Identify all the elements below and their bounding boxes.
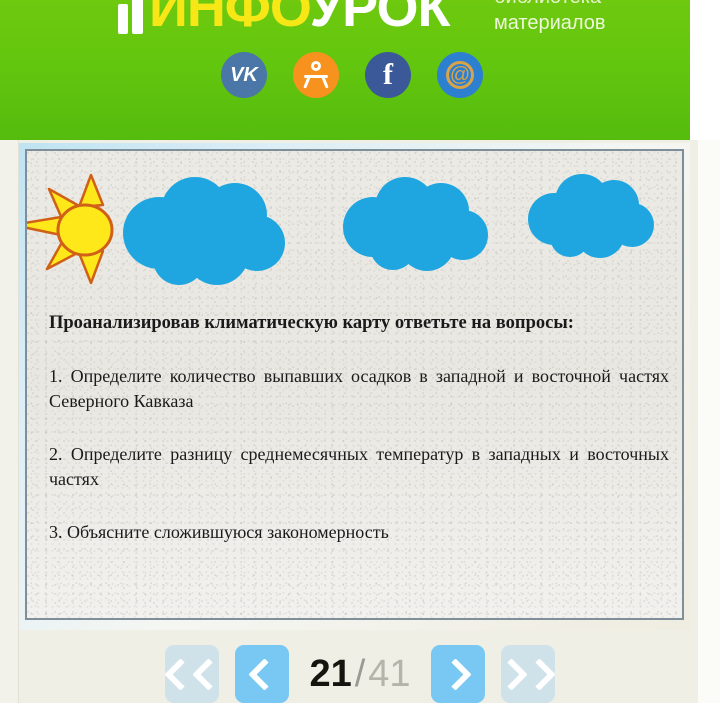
pagination-last-button[interactable] <box>501 645 555 703</box>
header-right-fill <box>690 0 720 140</box>
chevron-double-left-icon <box>165 663 220 686</box>
infourok-mark-icon <box>118 0 144 34</box>
cloud-svg-3 <box>522 171 660 263</box>
slide-frame[interactable]: Проанализировав климатическую карту отве… <box>19 143 690 630</box>
cloud-svg-1 <box>117 171 297 286</box>
question-item-2: 2. Определите разницу среднемесячных тем… <box>49 442 669 492</box>
tagline-line-1: библиотека <box>494 0 606 10</box>
logo-word-b: УРОК <box>310 0 450 38</box>
page-gutter-right <box>698 140 720 703</box>
tagline-line-2: материалов <box>494 10 606 36</box>
chevron-right-icon <box>439 658 472 691</box>
logo-word-a: ИНФО <box>149 0 310 38</box>
page-root: ИНФОУРОК библиотека материалов VK f <box>0 0 720 703</box>
pagination-prev-button[interactable] <box>235 645 289 703</box>
logo-wordmark: ИНФОУРОК <box>149 0 449 34</box>
slide-text-block: Проанализировав климатическую карту отве… <box>49 311 669 545</box>
slide-heading: Проанализировав климатическую карту отве… <box>49 311 669 336</box>
page-gutter-left <box>0 140 19 703</box>
site-logo[interactable]: ИНФОУРОК <box>118 0 449 34</box>
odnoklassniki-icon <box>304 61 328 89</box>
cloud-icon <box>117 171 297 291</box>
social-links: VK f @ <box>221 52 483 98</box>
cloud-icon <box>522 171 660 268</box>
social-link-vk[interactable]: VK <box>221 52 267 98</box>
chevron-left-icon <box>248 658 281 691</box>
site-tagline: библиотека материалов <box>494 0 606 36</box>
mail-at-icon: @ <box>446 61 474 89</box>
pagination-next-button[interactable] <box>431 645 485 703</box>
facebook-icon: f <box>383 58 393 92</box>
question-item-3: 3. Объясните сложившуюся закономерность <box>49 520 669 545</box>
pagination-counter: 21/41 <box>305 655 414 693</box>
social-link-ok[interactable] <box>293 52 339 98</box>
pagination-current-page: 21 <box>309 653 351 695</box>
pagination-first-button[interactable] <box>165 645 219 703</box>
social-link-facebook[interactable]: f <box>365 52 411 98</box>
chevron-double-right-icon <box>500 663 555 686</box>
vk-icon: VK <box>230 64 258 87</box>
slide-canvas: Проанализировав климатическую карту отве… <box>25 149 684 620</box>
site-header: ИНФОУРОК библиотека материалов VK f <box>0 0 690 140</box>
pagination-total-pages: 41 <box>368 653 410 695</box>
pagination-separator: / <box>352 653 369 695</box>
question-item-1: 1. Определите количество выпавших осадко… <box>49 364 669 414</box>
slide-pagination: 21/41 <box>0 645 720 703</box>
social-link-mail[interactable]: @ <box>437 52 483 98</box>
cloud-icon <box>337 173 497 278</box>
cloud-svg-2 <box>337 173 497 273</box>
